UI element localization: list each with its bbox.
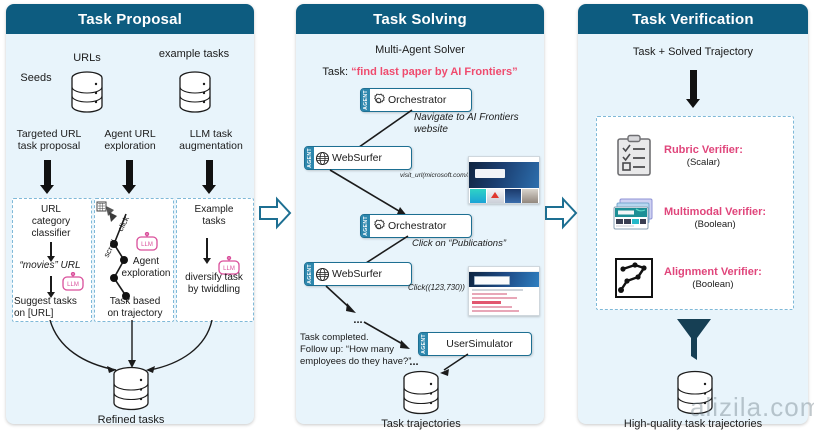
high-quality-trajectories-database-icon: [674, 370, 716, 416]
verifier-title-alignment: Alignment Verifier:: [664, 265, 762, 279]
agent-name-usersimulator: UserSimulator: [428, 338, 531, 350]
col1-arrow-2: [50, 276, 52, 292]
col2-step-2: Task based on trajectory: [98, 296, 172, 320]
svg-text:LLM: LLM: [141, 242, 153, 248]
globe-icon-2: [314, 267, 331, 282]
funnel-icon: [674, 316, 714, 371]
svg-text:click: click: [116, 214, 132, 233]
label-high-quality-trajectories: High-quality task trajectories: [590, 418, 796, 430]
task-text: “find last paper by AI Frontiers”: [351, 66, 517, 78]
col1-arrow-1: [50, 242, 52, 256]
screenshot-ai-frontiers-home: [468, 156, 540, 204]
agent-name-orchestrator-2: Orchestrator: [387, 220, 452, 232]
gear-icon-2: [370, 219, 387, 234]
agent-box-websurfer-2[interactable]: AGENT WebSurfer: [304, 262, 412, 286]
col1-step-2: “movies” URL: [10, 260, 90, 272]
verifier-sub-alignment: (Boolean): [664, 279, 762, 291]
label-urls: URLs: [58, 52, 116, 64]
panel-title-task-solving: Task Solving: [296, 4, 544, 34]
panel-body-task-verification: Task + Solved Trajectory Rubric Verifier…: [578, 34, 808, 424]
panel-body-task-proposal: Seeds URLs example tasks: [6, 34, 254, 424]
label-task-solved-trajectory: Task + Solved Trajectory: [588, 46, 798, 58]
agent-name-websurfer-2: WebSurfer: [331, 268, 388, 280]
label-task-trajectories: Task trajectories: [358, 418, 484, 430]
verifier-title-rubric: Rubric Verifier:: [664, 143, 743, 157]
arrow-to-col2: [126, 160, 133, 186]
panel-task-verification: Task Verification Task + Solved Trajecto…: [578, 4, 808, 424]
arrow-to-verifiers: [690, 70, 697, 100]
verifier-text-multimodal: Multimodal Verifier: (Boolean): [664, 205, 766, 231]
panel-title-task-proposal: Task Proposal: [6, 4, 254, 34]
col3-step-1: Example tasks: [178, 204, 250, 228]
col3-arrow-1: [206, 238, 208, 258]
globe-icon: [314, 151, 331, 166]
chevron-right-icon-1: [258, 196, 292, 230]
task-prefix: Task:: [322, 66, 351, 78]
column-caption-agent-url: Agent URL exploration: [90, 128, 170, 152]
verifier-row-alignment: Alignment Verifier: (Boolean): [612, 256, 762, 300]
chevron-right-icon-2: [544, 196, 578, 230]
verifier-text-rubric: Rubric Verifier: (Scalar): [664, 143, 743, 169]
verifier-sub-multimodal: (Boolean): [664, 219, 766, 231]
col1-step-1: URL category classifier: [14, 204, 88, 240]
panel-task-proposal: Task Proposal Seeds URLs example tasks: [6, 4, 254, 424]
task-statement: Task: “find last paper by AI Frontiers”: [296, 66, 544, 78]
panel-body-task-solving: Multi-Agent Solver Task: “find last pape…: [296, 34, 544, 424]
clipboard-checklist-icon: [612, 134, 656, 178]
task-trajectories-database-icon: [400, 370, 442, 416]
urls-database-icon: [68, 70, 106, 114]
label-seeds: Seeds: [10, 72, 62, 84]
col2-llm-badge: LLM: [134, 232, 160, 259]
verifier-title-multimodal: Multimodal Verifier:: [664, 205, 766, 219]
svg-text:LLM: LLM: [67, 282, 79, 288]
col1-llm-badge: LLM: [60, 272, 86, 299]
subtitle-multi-agent-solver: Multi-Agent Solver: [296, 44, 544, 56]
screenshot-publications-page: [468, 266, 540, 316]
browser-stack-icon: [612, 196, 656, 240]
agent-box-websurfer-1[interactable]: AGENT WebSurfer: [304, 146, 412, 170]
ellipsis-2: ...: [404, 356, 424, 368]
arrow-to-col3: [206, 160, 213, 186]
col2-step-1: Agent exploration: [118, 256, 174, 280]
annotation-navigate: Navigate to AI Frontiers website: [414, 112, 534, 136]
panel-title-task-verification: Task Verification: [578, 4, 808, 34]
verifier-row-multimodal: Multimodal Verifier: (Boolean): [612, 196, 766, 240]
agent-name-websurfer-1: WebSurfer: [331, 152, 388, 164]
column-caption-llm-task: LLM task augmentation: [170, 128, 252, 152]
panel-task-solving: Task Solving Multi-Agent Solver Task: “f…: [296, 4, 544, 424]
agent-name-orchestrator-1: Orchestrator: [387, 94, 452, 106]
column-caption-targeted-url: Targeted URL task proposal: [8, 128, 90, 152]
label-refined-tasks: Refined tasks: [70, 414, 192, 426]
annotation-click-publications: Click on “Publications”: [412, 238, 536, 250]
annotation-followup: Task completed. Follow up: “How many emp…: [300, 332, 412, 368]
trajectory-graph-icon: [612, 256, 656, 300]
example-tasks-database-icon: [176, 70, 214, 114]
verifier-row-rubric: Rubric Verifier: (Scalar): [612, 134, 743, 178]
gear-icon: [370, 93, 387, 108]
verifier-sub-rubric: (Scalar): [664, 157, 743, 169]
refined-tasks-database-icon: [110, 366, 152, 412]
label-example-tasks: example tasks: [148, 48, 240, 60]
arrow-to-col1: [44, 160, 51, 186]
agent-tab-label-2: AGENT: [305, 147, 314, 169]
col3-step-2: diversify task by twiddling: [176, 272, 252, 296]
agent-tab-label-4: AGENT: [305, 263, 314, 285]
col1-step-3: Suggest tasks on [URL]: [14, 296, 90, 320]
verifier-text-alignment: Alignment Verifier: (Boolean): [664, 265, 762, 291]
